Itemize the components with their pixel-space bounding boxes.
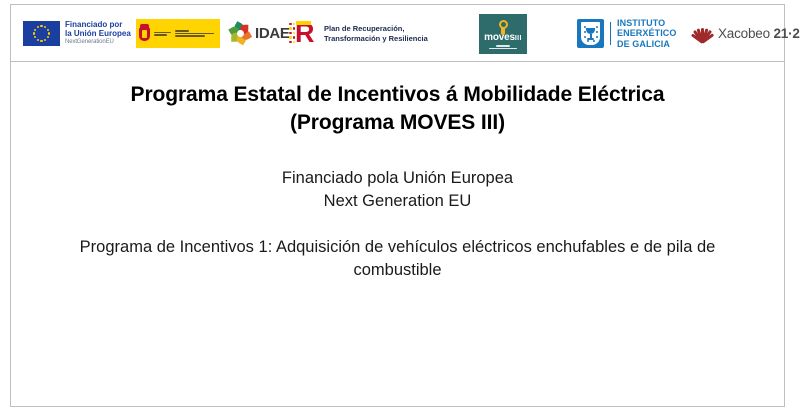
plan-de-recuperacion-transformacion-y-resiliencia-logo: R Plan de Recuperación, Transformación y…	[289, 5, 428, 62]
program-description: Programa de Incentivos 1: Adquisición de…	[28, 236, 768, 282]
inega-divider	[610, 22, 611, 45]
inega-logo-text: INSTITUTO ENERXÉTICO DE GALICIA	[617, 18, 677, 50]
idae-logo: IDAE	[229, 5, 290, 62]
program-description-line-1: Programa de Incentivos 1: Adquisición de…	[28, 236, 768, 259]
idae-rosette-icon	[229, 23, 251, 45]
prtr-line-1: Plan de Recuperación,	[324, 24, 428, 33]
gobierno-de-espana-ministerio-logo: GOBIERNO DE ESPAÑA MINISTERIO PARA LA TR…	[136, 5, 220, 62]
inega-line-2: ENERXÉTICO	[617, 28, 677, 39]
logo-band: Financiado por la Unión Europea NextGene…	[11, 5, 784, 62]
program-description-line-2: combustible	[28, 259, 768, 282]
spain-coat-of-arms-icon	[138, 24, 151, 43]
scallop-shell-icon	[691, 24, 713, 44]
xacobeo-21-22-logo: Xacobeo 21·22	[691, 5, 800, 62]
page-title-line-2: (Programa MOVES III)	[53, 109, 743, 137]
page-title: Programa Estatal de Incentivos á Mobilid…	[53, 81, 743, 137]
moves-logo-box: movesIII	[479, 14, 527, 54]
financiado-por-la-union-europea-logo: Financiado por la Unión Europea NextGene…	[23, 5, 131, 62]
inega-line-1: INSTITUTO	[617, 18, 677, 29]
plug-icon	[498, 20, 509, 35]
xacobeo-word-text: Xacobeo	[718, 26, 773, 41]
slide-body: Programa Estatal de Incentivos á Mobilid…	[11, 81, 784, 282]
inega-line-3: DE GALICIA	[617, 39, 677, 50]
prtr-line-2: Transformación y Resiliencia	[324, 34, 428, 43]
xunta-de-galicia-coat-of-arms-icon	[577, 19, 604, 48]
funding-subtitle-line-2: Next Generation EU	[53, 190, 743, 213]
moves-iii-logo: movesIII	[479, 5, 527, 62]
gobierno-logo-box: GOBIERNO DE ESPAÑA MINISTERIO PARA LA TR…	[136, 19, 220, 48]
xacobeo-years: 21·22	[773, 26, 800, 41]
page-title-line-1: Programa Estatal de Incentivos á Mobilid…	[53, 81, 743, 109]
gobierno-logo-text	[154, 30, 214, 37]
eu-logo-line-3: NextGenerationEU	[65, 39, 131, 46]
eu-flag-icon	[23, 21, 60, 46]
xacobeo-wordmark: Xacobeo 21·22	[718, 26, 800, 41]
instituto-enerxetico-de-galicia-logo: INSTITUTO ENERXÉTICO DE GALICIA	[577, 5, 677, 62]
moves-roman-numeral: III	[515, 35, 522, 42]
prtr-logo-text: Plan de Recuperación, Transformación y R…	[324, 24, 428, 43]
eu-logo-text: Financiado por la Unión Europea NextGene…	[65, 21, 131, 46]
slide-frame: Financiado por la Unión Europea NextGene…	[10, 4, 785, 407]
idae-wordmark: IDAE	[255, 25, 290, 42]
funding-subtitle-line-1: Financiado pola Unión Europea	[53, 167, 743, 190]
moves-subtext	[489, 45, 517, 49]
funding-subtitle: Financiado pola Unión Europea Next Gener…	[53, 167, 743, 213]
eu-logo-line-2: la Unión Europea	[65, 30, 131, 39]
prtr-mark-icon: R	[289, 20, 319, 48]
